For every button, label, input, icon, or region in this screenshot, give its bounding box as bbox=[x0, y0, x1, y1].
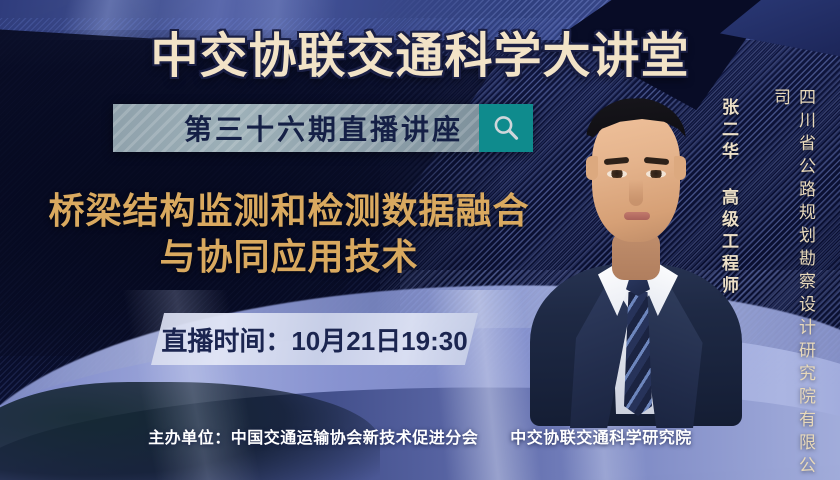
speaker-name-and-title: 张二华 高级工程师 bbox=[716, 98, 741, 298]
portrait-face bbox=[592, 108, 680, 242]
speaker-portrait bbox=[536, 64, 732, 414]
episode-label-container: 第三十六期直播讲座 bbox=[113, 104, 479, 152]
portrait-nose bbox=[629, 180, 643, 206]
episode-label: 第三十六期直播讲座 bbox=[184, 108, 463, 148]
portrait-eye-right bbox=[646, 170, 666, 178]
footer-organizer-primary: 主办单位：中国交通运输协会新技术促进分会 bbox=[148, 430, 478, 447]
portrait-mouth bbox=[624, 212, 650, 220]
organizer-footer: 主办单位：中国交通运输协会新技术促进分会 中交协联交通科学研究院 bbox=[0, 424, 840, 448]
portrait-eye-left bbox=[607, 170, 627, 178]
portrait-necktie bbox=[624, 292, 652, 416]
footer-organizer-secondary: 中交协联交通科学研究院 bbox=[510, 430, 692, 447]
page-title: 中交协联交通科学大讲堂 bbox=[0, 16, 840, 86]
search-icon-box bbox=[479, 104, 533, 152]
live-time-plate: 直播时间：10月21日19:30 bbox=[151, 313, 478, 365]
live-time-text: 直播时间：10月21日19:30 bbox=[161, 321, 467, 358]
search-icon bbox=[491, 113, 521, 143]
portrait-ear-left bbox=[586, 156, 598, 180]
episode-banner: 第三十六期直播讲座 bbox=[113, 104, 533, 152]
portrait-ear-right bbox=[674, 156, 686, 180]
speaker-organization: 四川省公路规划勘察设计研究院有限公司 bbox=[768, 88, 818, 480]
headline-line-1: 桥梁结构监测和检测数据融合 bbox=[48, 190, 529, 231]
headline-line-2: 与协同应用技术 bbox=[24, 234, 554, 280]
webinar-poster: 中交协联交通科学大讲堂 第三十六期直播讲座 桥梁结构监测和检测数据融合 与协同应… bbox=[0, 0, 840, 480]
lecture-headline: 桥梁结构监测和检测数据融合 与协同应用技术 bbox=[24, 188, 554, 280]
